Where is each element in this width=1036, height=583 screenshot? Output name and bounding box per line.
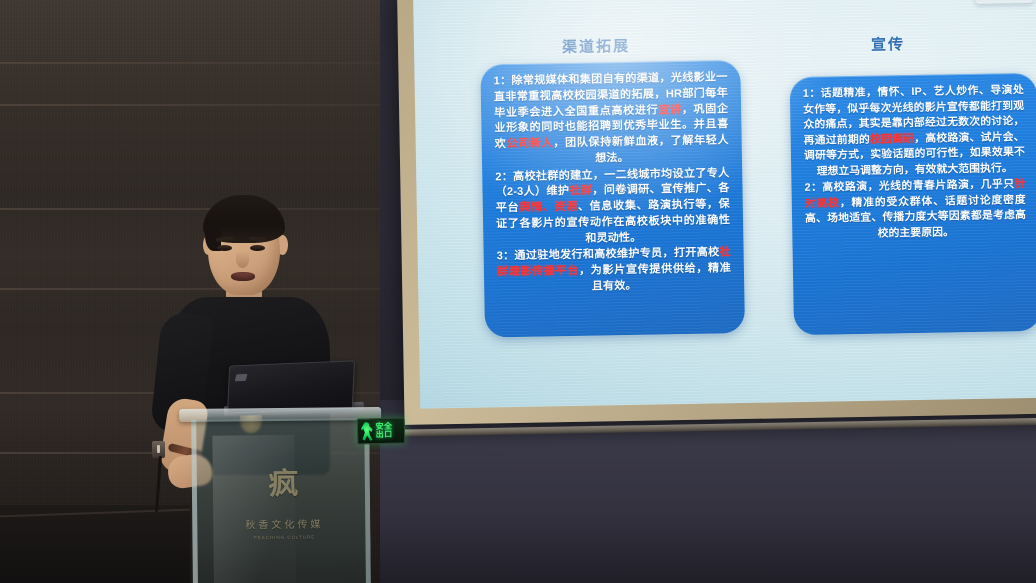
card-paragraph: 2：高校社群的建立，一二线城市均设立了专人（2-3人）维护社群，问卷调研、宣传推… [495, 166, 730, 249]
podium-top-edge [179, 407, 381, 422]
highlighted-text: 校园调研 [870, 133, 914, 146]
podium-mark-big: 疯 [236, 469, 332, 500]
content-card-channel: 1：除常规媒体和集团自有的渠道，光线影业一直非常重视高校校园渠道的拓展，HR部门… [480, 60, 745, 337]
wall-seam [0, 104, 420, 106]
column-heading-channel: 渠道拓展 [562, 35, 630, 57]
emergency-exit-sign: 安全出口 [357, 418, 406, 445]
slide-logo: LOGO 公司名称中文占位 [975, 0, 1034, 4]
content-card-promotion: 1：话题精准，情怀、IP、艺人炒作、导演处女作等，似乎每次光线的影片宣传都能打到… [790, 73, 1036, 335]
body-text: 3：通过驻地发行和高校维护专员，打开高校 [497, 247, 720, 263]
column-heading-promotion: 宣传 [871, 33, 905, 55]
mouth [231, 272, 255, 281]
body-text: ，团队保持新鲜血液，了解年轻人想法。 [553, 134, 729, 164]
projection-screen: 宣传发行打法 LOGO 公司名称中文占位 渠道拓展 宣传 1：除常规媒体和集团自… [413, 0, 1036, 409]
highlighted-text: 社群 [569, 185, 592, 197]
highlighted-text: 舆情、资源 [519, 201, 578, 214]
laptop-screen [227, 360, 355, 413]
exit-sign-label: 安全出口 [376, 423, 402, 440]
card-paragraph: 1：话题精准，情怀、IP、艺人炒作、导演处女作等，似乎每次光线的影片宣传都能打到… [803, 83, 1026, 180]
right-eye [250, 245, 265, 251]
podium-mark-tiny: PEACHING CULTURE [236, 534, 332, 540]
highlighted-text: 公司新人 [506, 137, 553, 150]
floor [0, 505, 190, 583]
podium-mark-sub: 秋香文化传媒 [236, 515, 332, 531]
card-paragraph: 2：高校路演，光线的青春片路演，几乎只针对高校，精准的受众群体、话题讨论度密度高… [804, 177, 1026, 243]
podium-brand-mark: 疯 秋香文化传媒 PEACHING CULTURE [236, 469, 333, 540]
card-paragraph: 3：通过驻地发行和高校维护专员，打开高校社群观影传播平台，为影片宣传提供供给，精… [497, 245, 732, 296]
running-person-icon [361, 422, 374, 441]
projection-screen-frame: 宣传发行打法 LOGO 公司名称中文占位 渠道拓展 宣传 1：除常规媒体和集团自… [397, 0, 1036, 425]
body-text: ，为影片宣传提供供给，精准且有效。 [579, 262, 731, 292]
card-paragraph: 1：除常规媒体和集团自有的渠道，光线影业一直非常重视高校校园渠道的拓展，HR部门… [493, 70, 729, 169]
slide: 宣传发行打法 LOGO 公司名称中文占位 渠道拓展 宣传 1：除常规媒体和集团自… [413, 0, 1036, 409]
laptop-brand-icon [235, 374, 248, 382]
glass-podium: 疯 秋香文化传媒 PEACHING CULTURE [185, 407, 377, 583]
wall-seam [0, 62, 420, 64]
nose [236, 251, 249, 268]
left-eye [217, 245, 232, 251]
presentation-photo: 宣传发行打法 LOGO 公司名称中文占位 渠道拓展 宣传 1：除常规媒体和集团自… [0, 0, 1036, 583]
body-text: 2：高校路演，光线的青春片路演，几乎只 [804, 179, 1014, 195]
hair [203, 195, 285, 243]
highlighted-text: 宣讲 [658, 104, 682, 116]
